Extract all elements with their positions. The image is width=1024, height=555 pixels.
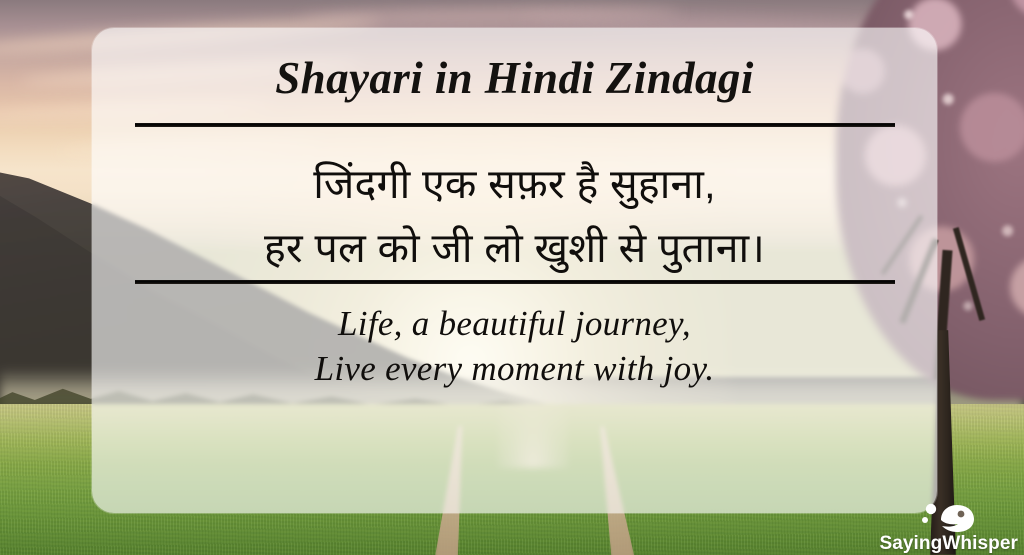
divider-bottom: [135, 280, 895, 284]
english-translation-block: Life, a beautiful journey, Live every mo…: [315, 302, 715, 392]
hindi-quote-line-2: हर पल को जी लो खुशी से पुताना।: [264, 217, 765, 281]
english-quote-line-2: Live every moment with joy.: [315, 347, 715, 392]
page-title: Shayari in Hindi Zindagi: [275, 56, 753, 101]
hindi-quote-line-1: जिंदगी एक सफ़र है सुहाना,: [264, 153, 765, 217]
quote-image-canvas: Shayari in Hindi Zindagi जिंदगी एक सफ़र …: [0, 0, 1024, 555]
bird-whisper-icon: [921, 500, 977, 534]
watermark: SayingWhisper: [879, 500, 1018, 553]
watermark-brand: SayingWhisper: [879, 534, 1018, 553]
hindi-quote-block: जिंदगी एक सफ़र है सुहाना, हर पल को जी लो…: [264, 153, 765, 280]
divider-top: [135, 123, 895, 127]
english-quote-line-1: Life, a beautiful journey,: [315, 302, 715, 347]
quote-card: Shayari in Hindi Zindagi जिंदगी एक सफ़र …: [92, 28, 937, 513]
